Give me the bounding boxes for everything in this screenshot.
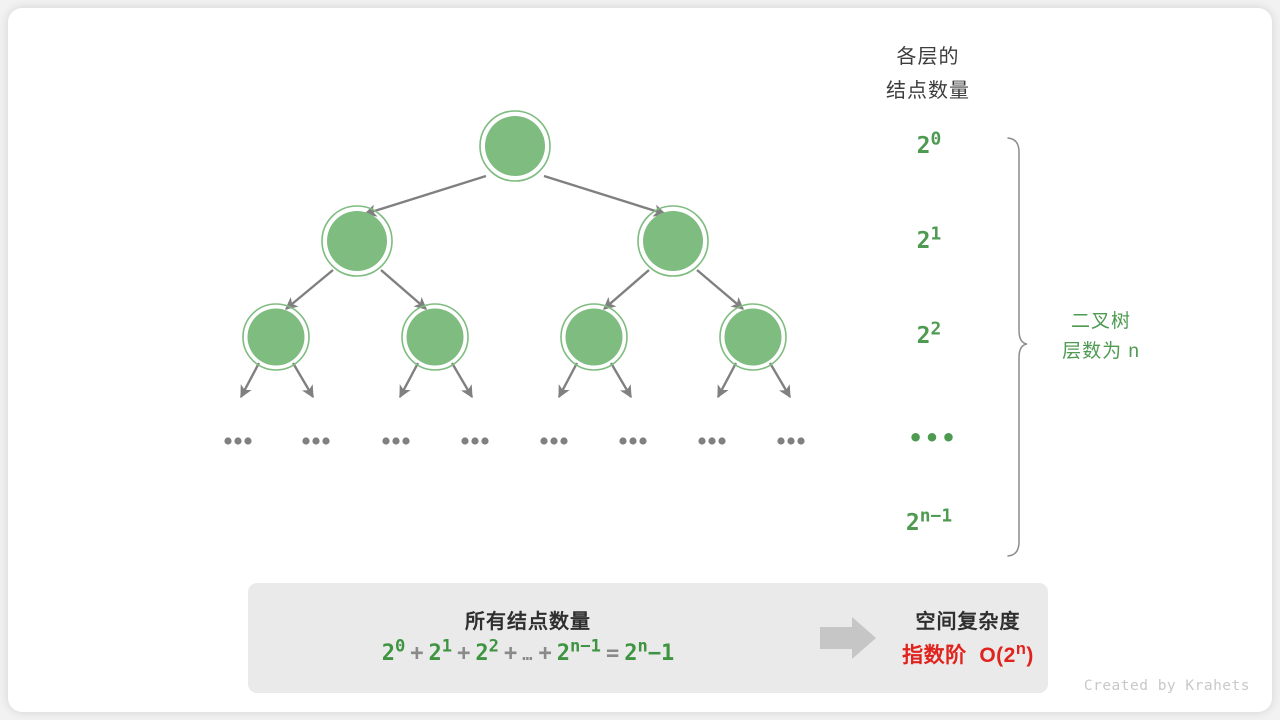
formula-term-4: 2n−1: [557, 641, 601, 666]
formula-op-2: +: [452, 641, 475, 666]
tree-node: [720, 304, 786, 370]
tree-node: [480, 111, 550, 181]
level-0-count-label: 20: [854, 133, 1004, 159]
brace-caption-line2: 层数为 n: [986, 337, 1216, 367]
level-1-count-label: 21: [854, 228, 1004, 254]
leaf-ellipsis: [619, 437, 646, 444]
formula-term-3: 22: [475, 641, 499, 666]
complexity-prefix: 指数阶: [902, 644, 967, 667]
column-header: 各层的 结点数量: [808, 40, 1048, 108]
white-card: 各层的 结点数量 20 21 22 ••• 2n−1 二叉树 层数为 n 所有结…: [8, 8, 1272, 712]
level-1-exponent: 1: [931, 223, 942, 244]
tree-node: [243, 304, 309, 370]
tree-node: [402, 304, 468, 370]
level-2-exponent: 2: [931, 318, 942, 339]
formula-op-4: +: [533, 641, 556, 666]
formula-equals: =: [601, 641, 624, 666]
leaf-ellipsis: [777, 437, 804, 444]
formula-term-2: 21: [429, 641, 453, 666]
formula-op-3: +: [499, 641, 522, 666]
formula-term-1: 20: [382, 641, 406, 666]
level-2-base: 2: [917, 323, 931, 349]
node-count-title: 所有结点数量: [248, 605, 808, 634]
tree-node: [561, 304, 627, 370]
brace-caption-line1: 二叉树: [986, 307, 1216, 337]
right-arrow-icon: [808, 583, 888, 693]
level-n-base: 2: [906, 510, 920, 536]
leaf-ellipsis: [224, 437, 251, 444]
node-count-block: 所有结点数量 20+21+22+…+2n−1=2n−1: [248, 583, 808, 693]
complexity-bigo: O(2n): [979, 644, 1034, 667]
column-header-line1: 各层的: [808, 40, 1048, 74]
level-2-count-label: 22: [854, 323, 1004, 349]
level-0-base: 2: [917, 133, 931, 159]
space-complexity-block: 空间复杂度 指数阶 O(2n): [888, 583, 1048, 693]
summary-panel: 所有结点数量 20+21+22+…+2n−1=2n−1 空间复杂度 指数阶 O(…: [248, 583, 1048, 693]
node-count-formula: 20+21+22+…+2n−1=2n−1: [248, 641, 808, 666]
level-n-count-label: 2n−1: [854, 510, 1004, 536]
leaf-ellipsis: [302, 437, 329, 444]
brace-caption: 二叉树 层数为 n: [986, 307, 1216, 367]
level-0-exponent: 0: [931, 128, 942, 149]
leaf-ellipsis: [540, 437, 567, 444]
leaf-ellipsis: [698, 437, 725, 444]
level-ellipsis-label: •••: [858, 433, 1008, 443]
formula-result: 2n−1: [624, 641, 674, 666]
column-header-line2: 结点数量: [808, 74, 1048, 108]
level-n-exponent: n−1: [920, 505, 952, 526]
leaf-ellipsis-row: [224, 437, 804, 444]
screenshot-root: 各层的 结点数量 20 21 22 ••• 2n−1 二叉树 层数为 n 所有结…: [0, 0, 1280, 720]
leaf-ellipsis: [461, 437, 488, 444]
tree-node: [638, 206, 708, 276]
implies-arrow-block: [808, 583, 888, 693]
tree-edges-level-2: [241, 363, 790, 397]
tree-node: [322, 206, 392, 276]
space-complexity-title: 空间复杂度: [888, 605, 1048, 634]
formula-ellipsis: …: [522, 645, 533, 665]
tree-nodes: [243, 111, 786, 370]
watermark: Created by Krahets: [1084, 678, 1250, 694]
level-1-base: 2: [917, 228, 931, 254]
formula-op-1: +: [405, 641, 428, 666]
leaf-ellipsis: [382, 437, 409, 444]
space-complexity-value: 指数阶 O(2n): [888, 639, 1048, 669]
